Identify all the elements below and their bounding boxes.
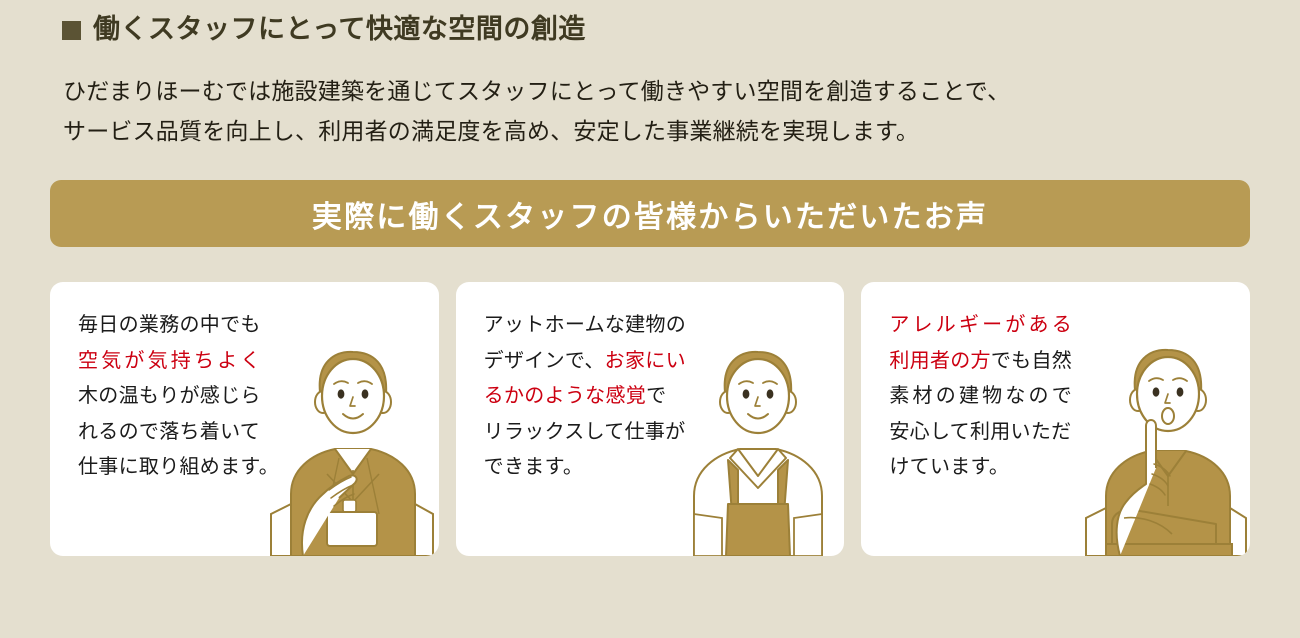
lead-paragraph: ひだまりほーむでは施設建築を通じてスタッフにとって働きやすい空間を創造することで…: [63, 72, 1010, 151]
testimonial-text: アットホームな建物のデザインで、お家にいるかのような感覚でリラックスして仕事がで…: [484, 308, 686, 486]
staff-thinking-icon: [1076, 318, 1248, 556]
testimonial-segment: で: [646, 385, 666, 407]
staff-hand-on-chest-icon: [265, 318, 437, 556]
testimonial-highlight: 空気が気持ちよく: [78, 350, 264, 372]
page-title: 働くスタッフにとって快適な空間の創造: [93, 16, 586, 43]
testimonial-text: アレルギーがある利用者の方でも自然素材の建物なので安心して利用いただけています。: [889, 308, 1075, 486]
testimonial-line: アットホームな建物の: [484, 308, 686, 344]
testimonial-segment: アットホームな建物の: [484, 314, 686, 336]
staff-apron-icon: [670, 318, 842, 556]
testimonial-segment: 毎日の業務の中でも: [78, 314, 261, 336]
testimonial-line: 毎日の業務の中でも: [78, 308, 279, 344]
testimonial-line: 安心して利用いただ: [889, 415, 1075, 451]
testimonial-line: けています。: [889, 450, 1075, 486]
testimonials-banner: 実際に働くスタッフの皆様からいただいたお声: [50, 180, 1250, 247]
testimonials-banner-label: 実際に働くスタッフの皆様からいただいたお声: [312, 192, 988, 236]
card-staff-allergy: アレルギーがある利用者の方でも自然素材の建物なので安心して利用いただけています。: [861, 282, 1250, 556]
testimonial-segment: 素材の建物なので: [889, 385, 1075, 407]
card-staff-air: 毎日の業務の中でも空気が気持ちよく木の温もりが感じられるので落ち着いて仕事に取り…: [50, 282, 439, 556]
testimonial-segment: れるので落ち着いて: [78, 421, 260, 443]
testimonial-highlight: アレルギーがある: [889, 314, 1075, 336]
testimonial-highlight: お家にい: [605, 350, 686, 372]
lead-line-2: サービス品質を向上し、利用者の満足度を高め、安定した事業継続を実現します。: [63, 112, 1010, 152]
testimonial-line: リラックスして仕事が: [484, 415, 686, 451]
testimonial-line: デザインで、お家にい: [484, 344, 686, 380]
testimonial-highlight: るかのような感覚: [484, 385, 646, 407]
testimonial-card-list: 毎日の業務の中でも空気が気持ちよく木の温もりが感じられるので落ち着いて仕事に取り…: [50, 282, 1250, 556]
testimonial-text: 毎日の業務の中でも空気が気持ちよく木の温もりが感じられるので落ち着いて仕事に取り…: [78, 308, 279, 486]
testimonial-segment: 木の温もりが感じら: [78, 385, 261, 407]
testimonial-line: 利用者の方でも自然: [889, 344, 1075, 380]
testimonial-segment: デザインで、: [484, 350, 605, 372]
testimonial-line: 仕事に取り組めます。: [78, 450, 279, 486]
page-heading: 働くスタッフにとって快適な空間の創造: [62, 16, 586, 43]
testimonial-line: れるので落ち着いて: [78, 415, 279, 451]
testimonial-segment: けています。: [889, 456, 1009, 478]
testimonial-line: 素材の建物なので: [889, 379, 1075, 415]
testimonial-segment: でも自然: [991, 350, 1072, 372]
testimonial-segment: 仕事に取り組めます。: [78, 456, 279, 478]
testimonial-line: アレルギーがある: [889, 308, 1075, 344]
lead-line-1: ひだまりほーむでは施設建築を通じてスタッフにとって働きやすい空間を創造することで…: [63, 72, 1010, 112]
testimonial-line: 木の温もりが感じら: [78, 379, 279, 415]
card-staff-athome: アットホームな建物のデザインで、お家にいるかのような感覚でリラックスして仕事がで…: [456, 282, 845, 556]
testimonial-segment: リラックスして仕事が: [484, 421, 686, 443]
testimonial-line: 空気が気持ちよく: [78, 344, 279, 380]
testimonial-line: できます。: [484, 450, 686, 486]
testimonial-highlight: 利用者の方: [889, 350, 991, 372]
testimonial-line: るかのような感覚で: [484, 379, 686, 415]
testimonial-segment: できます。: [484, 456, 584, 478]
square-bullet-icon: [62, 21, 81, 40]
testimonial-segment: 安心して利用いただ: [889, 421, 1071, 443]
